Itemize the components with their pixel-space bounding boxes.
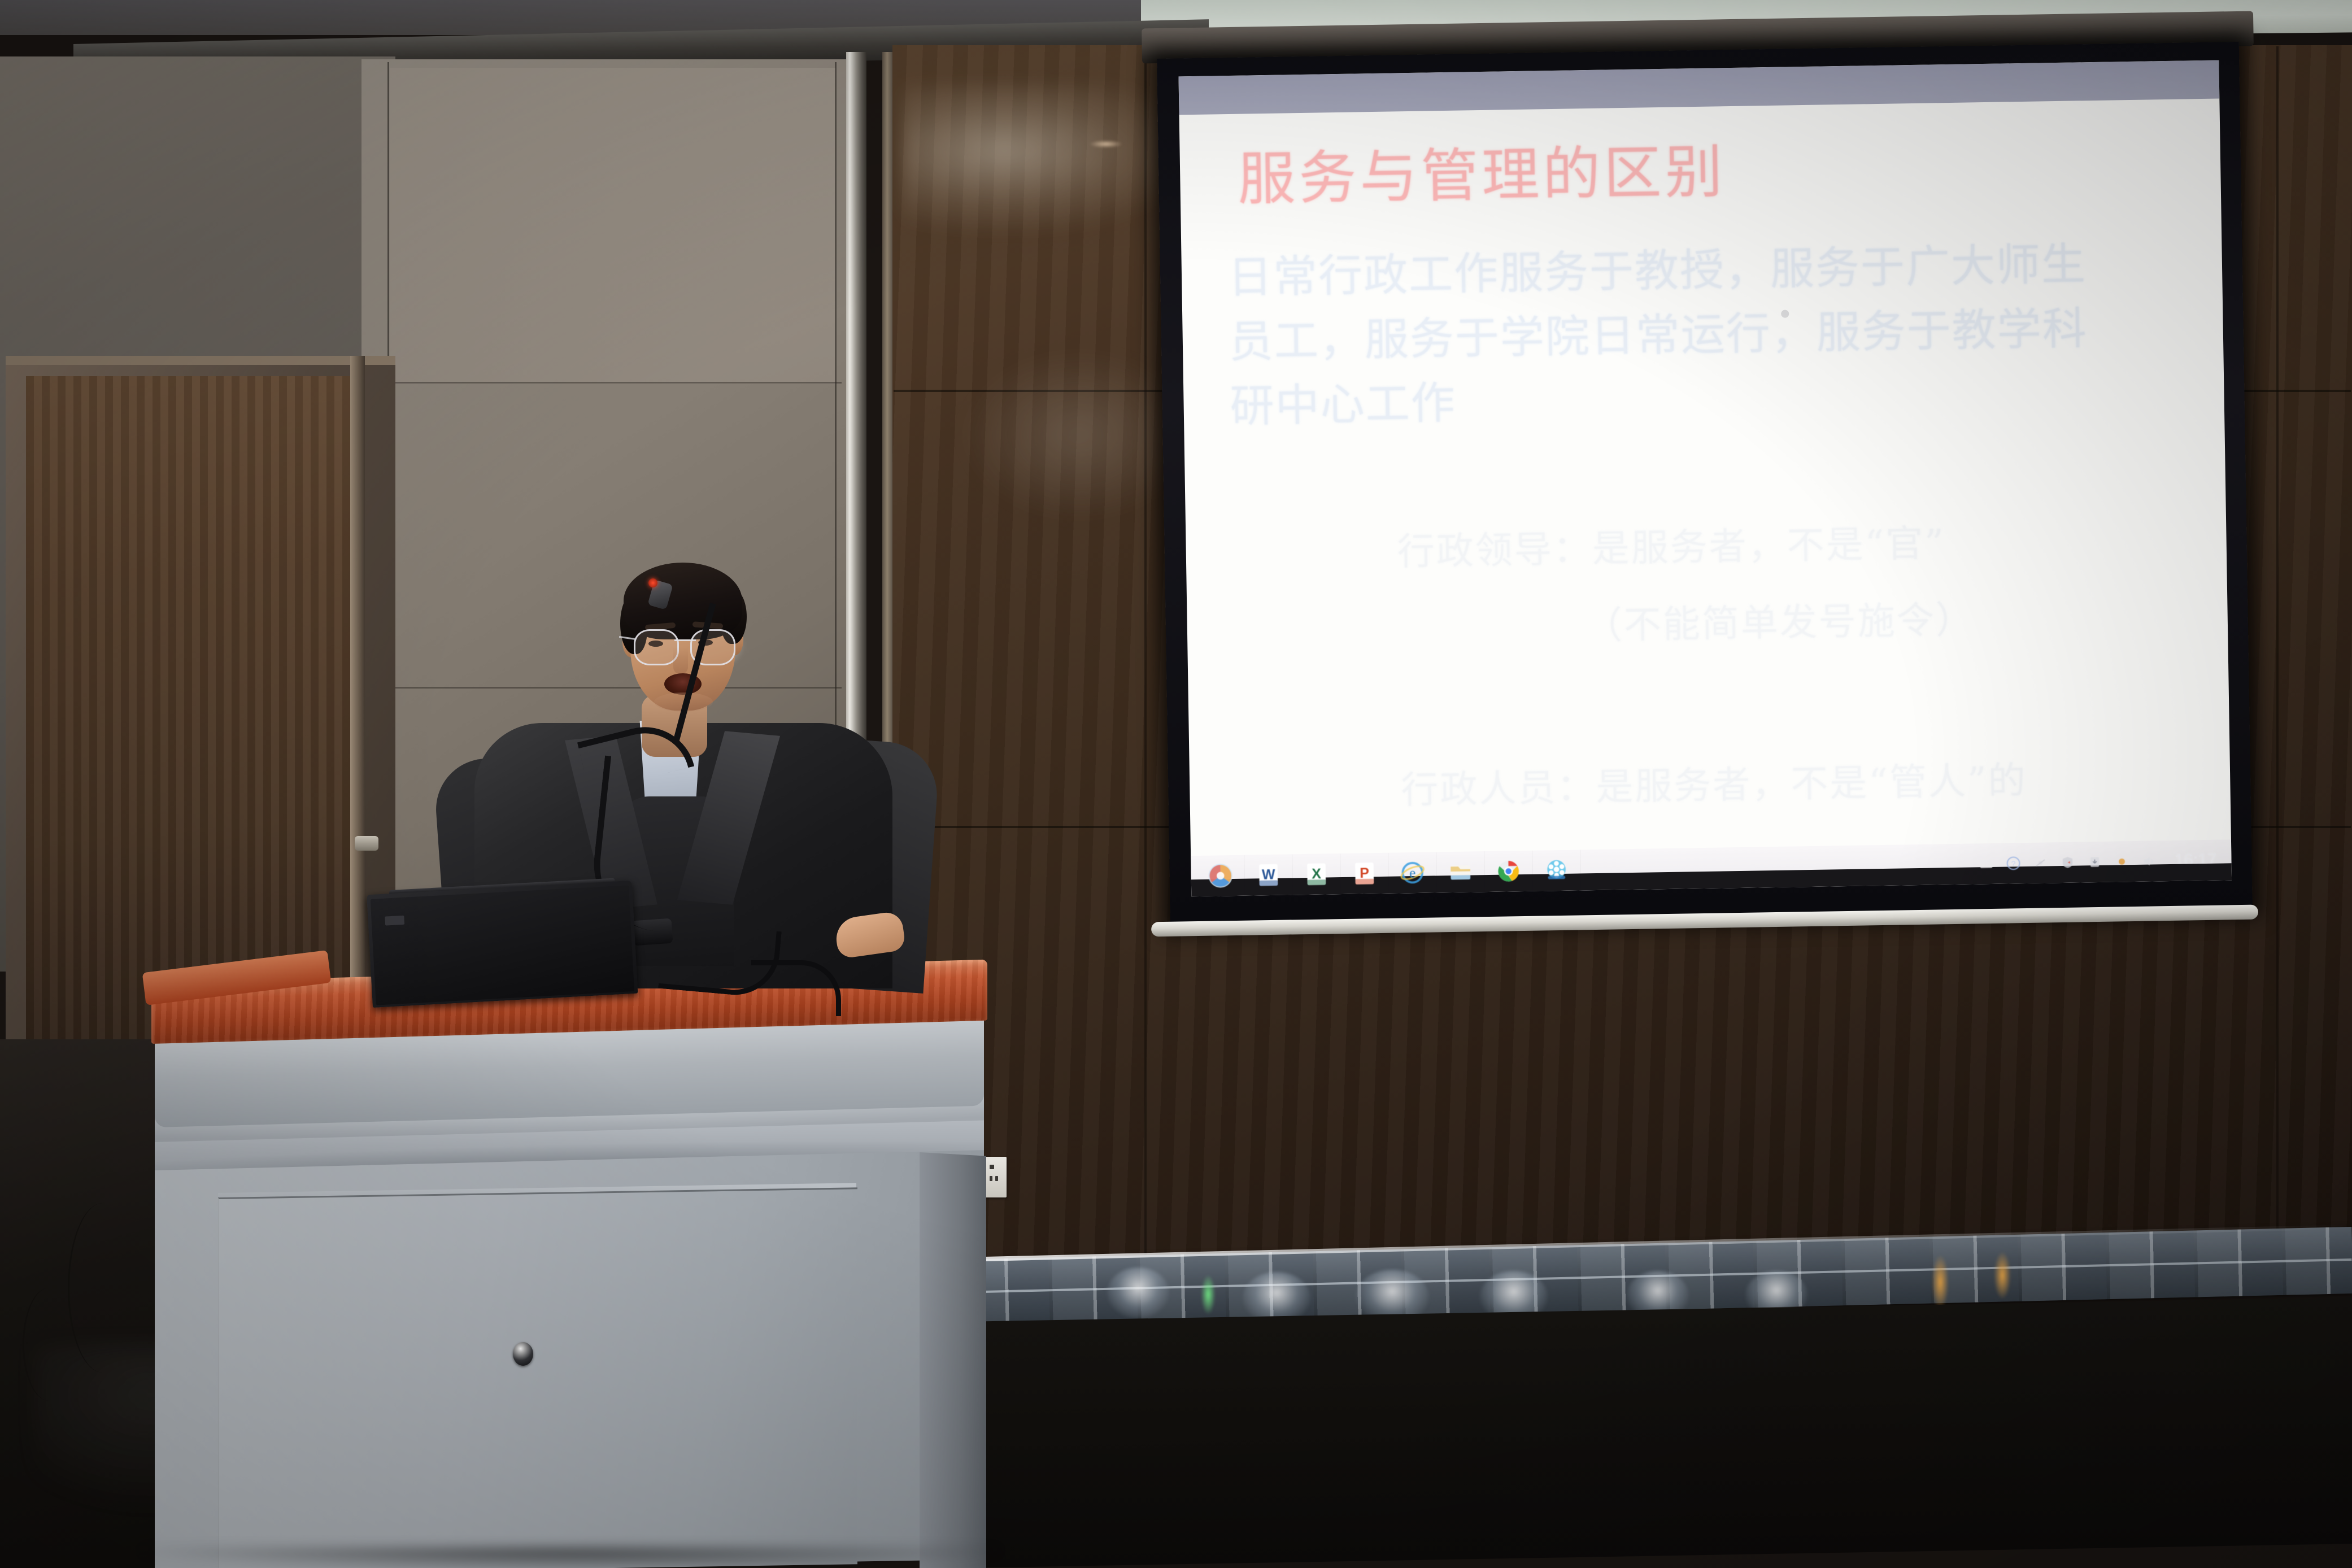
mirror-green-reflection [1201,1274,1216,1315]
svg-text:?: ? [2011,859,2015,868]
mirror-orange-reflection [1932,1255,1949,1309]
svg-text:W: W [1262,867,1275,883]
glasses-lens-left [634,629,679,665]
svg-text:X: X [1312,866,1321,882]
door-handle[interactable] [355,836,378,851]
word-icon-glyph: W [1255,862,1282,888]
slide-sub-line-2: （不能简单发号施令） [1584,586,2186,650]
internet-explorer-icon-glyph: e [1399,860,1426,886]
slide-sub-line-3: 行政人员：是服务者，不是“管人”的 [1401,747,2189,814]
floor-right [960,1297,2352,1568]
volume-icon[interactable] [2141,853,2156,868]
projection-screen-surface[interactable]: 服务与管理的区别 日常行政工作服务于教授，服务于广大师生 员工，服务于学院日常运… [1178,60,2232,896]
laptop-lid[interactable] [367,881,638,1008]
podium[interactable] [151,983,987,1568]
security-icon[interactable] [2060,855,2075,870]
door-edge-metal [350,356,365,1062]
wall-center-plaster-highlight [390,68,836,384]
podium-cabinet-lock[interactable] [513,1342,533,1366]
download-icon[interactable] [2087,855,2102,869]
slide-body: 日常行政工作服务于教授，服务于广大师生 员工，服务于学院日常运行，服务于教学科 … [1227,232,2183,439]
keyboard-ime-icon[interactable] [1979,856,1993,871]
mirror-orange-reflection [1994,1252,2011,1299]
file-explorer-icon-glyph [1447,859,1474,885]
svg-text:P: P [1360,865,1369,881]
microphone-led-indicator [648,578,657,587]
wood-panel-seam-vertical [2276,46,2279,1272]
podium-shadow [141,1548,1000,1568]
wall-seam-horizontal [361,382,842,384]
laptop-logo-badge [385,916,404,926]
lecture-hall-scene: 服务与管理的区别 日常行政工作服务于教授，服务于广大师生 员工，服务于学院日常运… [0,0,2352,1568]
wood-wall-specular-highlight [1089,140,1123,148]
laptop[interactable] [367,881,638,1008]
laptop-screen-back [371,885,634,1005]
presentation-slide: 服务与管理的区别 日常行政工作服务于教授，服务于广大师生 员工，服务于学院日常运… [1179,98,2232,896]
glasses-bridge [674,639,696,641]
slide-sub-block: 行政领导：是服务者，不是“官” （不能简单发号施令） 行政人员：是服务者，不是“… [1227,509,2189,817]
start-orb-icon [1207,863,1234,889]
wood-wall-reflection [901,85,1195,232]
chrome-icon-glyph [1495,858,1522,885]
network-icon[interactable] [2033,855,2048,870]
mirror-reflection-blob [1107,1268,1169,1318]
media-player-icon-glyph [1543,857,1570,884]
excel-icon-glyph: X [1303,861,1330,887]
presenter-hair [624,563,742,639]
projection-screen: 服务与管理的区别 日常行政工作服务于教授，服务于广大师生 员工，服务于学院日常运… [1157,42,2253,926]
help-icon[interactable]: ? [2006,856,2020,870]
presenter-nose [673,647,688,674]
podium-side-panel [920,1152,986,1568]
notification-icon[interactable] [2114,854,2129,869]
svg-text:e: e [1409,866,1415,881]
slide-sub-line-1: 行政领导：是服务者，不是“官” [1397,509,2185,576]
powerpoint-icon-glyph: P [1351,860,1378,887]
podium-cabinet-door[interactable] [218,1187,857,1568]
slide-title: 服务与管理的区别 [1238,134,2180,211]
floor-cable [68,1203,137,1373]
floor-cable [23,1288,75,1401]
